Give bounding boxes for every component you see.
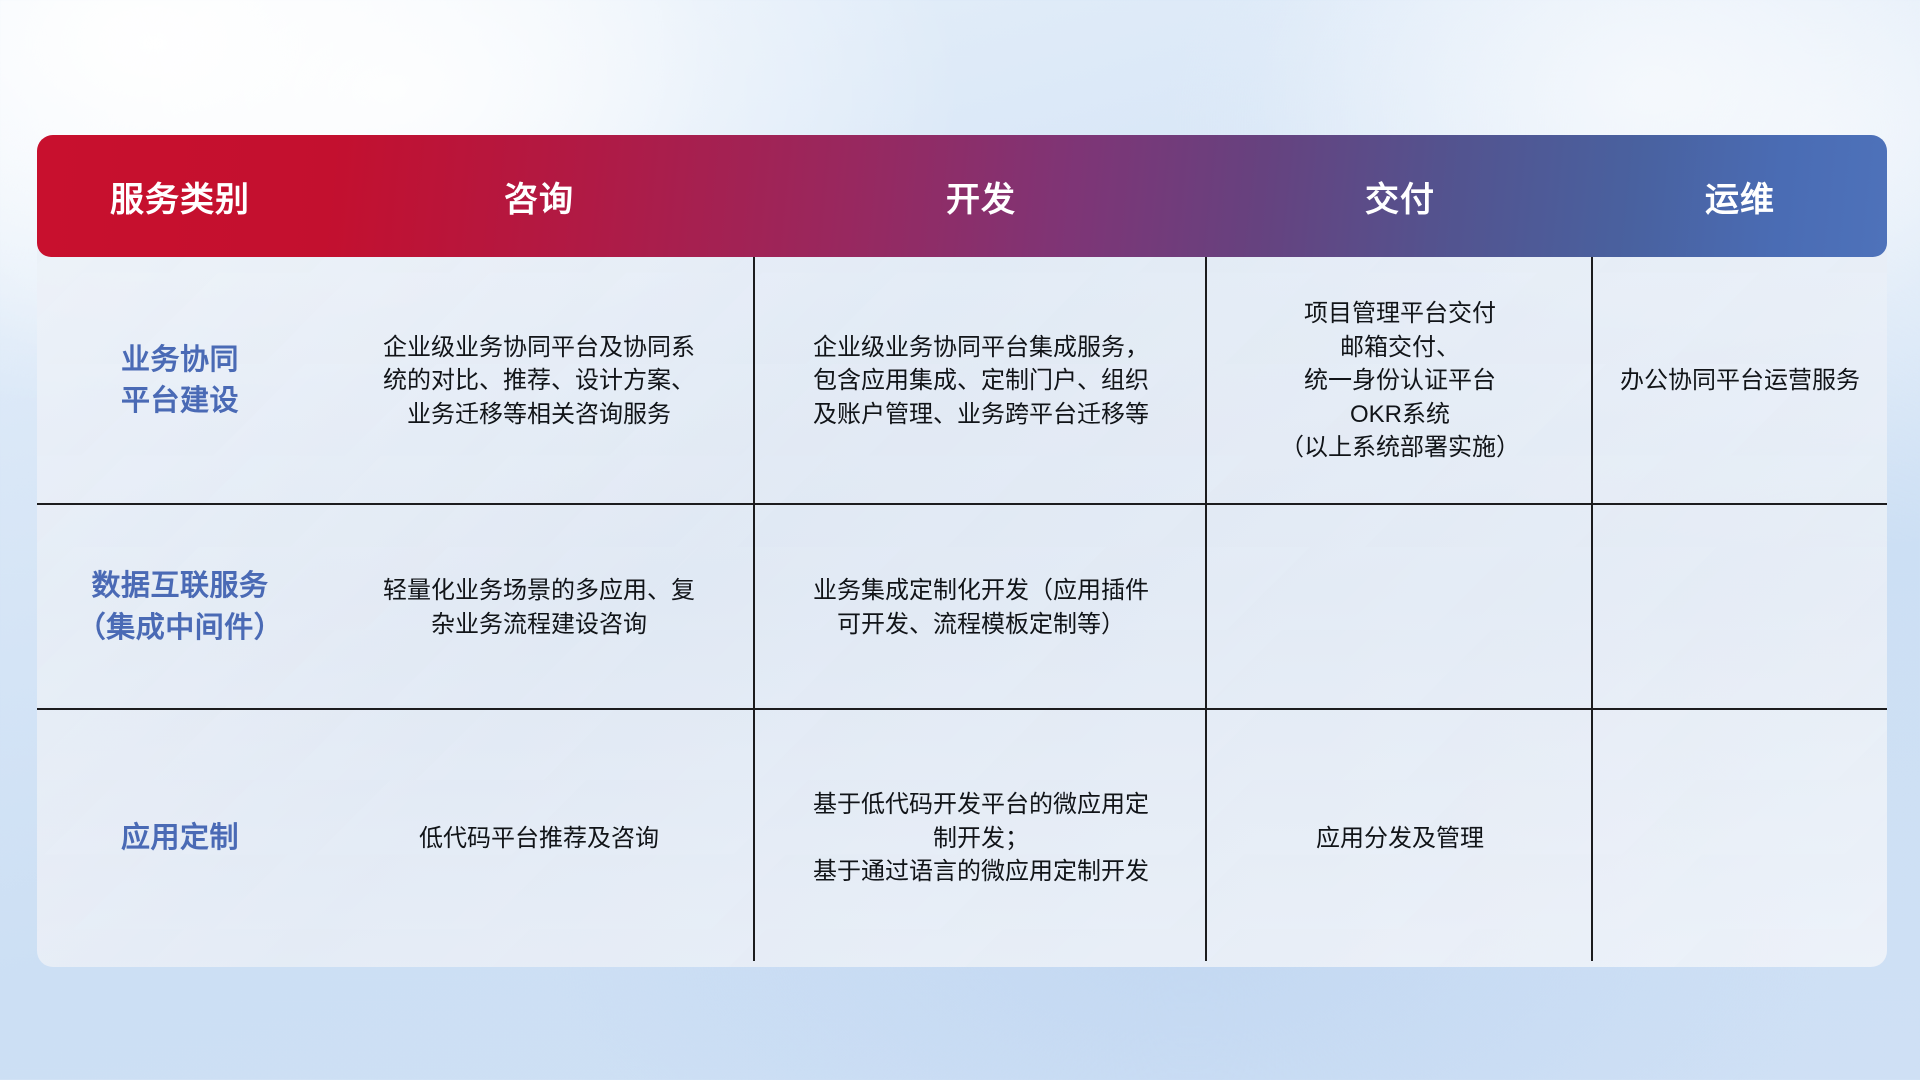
column-header-delivery: 交付 <box>1207 172 1593 221</box>
column-header-service-category: 服务类别 <box>37 172 323 221</box>
table-body: 业务协同 平台建设 企业级业务协同平台及协同系 统的对比、推荐、设计方案、 业务… <box>37 257 1887 967</box>
table-row: 数据互联服务 （集成中间件） 轻量化业务场景的多应用、复 杂业务流程建设咨询 业… <box>37 505 1887 710</box>
row-label-business-collaboration: 业务协同 平台建设 <box>37 257 323 505</box>
column-header-consulting: 咨询 <box>323 172 755 221</box>
table-row: 业务协同 平台建设 企业级业务协同平台及协同系 统的对比、推荐、设计方案、 业务… <box>37 257 1887 505</box>
cell-development-row2: 业务集成定制化开发（应用插件 可开发、流程模板定制等） <box>755 505 1207 710</box>
cell-operations-row2 <box>1593 505 1887 710</box>
column-header-operations: 运维 <box>1593 172 1887 221</box>
table-header-row: 服务类别 咨询 开发 交付 运维 <box>37 135 1887 257</box>
cell-operations-row3 <box>1593 710 1887 967</box>
cell-consulting-row1: 企业级业务协同平台及协同系 统的对比、推荐、设计方案、 业务迁移等相关咨询服务 <box>323 257 755 505</box>
cell-operations-row1: 办公协同平台运营服务 <box>1593 257 1887 505</box>
row-label-app-customization: 应用定制 <box>37 710 323 967</box>
service-matrix-table: 服务类别 咨询 开发 交付 运维 业务协同 平台建设 企业级业务协同平台及协同系… <box>37 135 1887 967</box>
cell-development-row3: 基于低代码开发平台的微应用定 制开发； 基于通过语言的微应用定制开发 <box>755 710 1207 967</box>
column-header-development: 开发 <box>755 172 1207 221</box>
cell-delivery-row1: 项目管理平台交付 邮箱交付、 统一身份认证平台 OKR系统 （以上系统部署实施） <box>1207 257 1593 505</box>
cell-delivery-row2 <box>1207 505 1593 710</box>
cell-consulting-row2: 轻量化业务场景的多应用、复 杂业务流程建设咨询 <box>323 505 755 710</box>
cell-consulting-row3: 低代码平台推荐及咨询 <box>323 710 755 967</box>
table-row: 应用定制 低代码平台推荐及咨询 基于低代码开发平台的微应用定 制开发； 基于通过… <box>37 710 1887 967</box>
row-label-data-interconnect: 数据互联服务 （集成中间件） <box>37 505 323 710</box>
cell-development-row1: 企业级业务协同平台集成服务， 包含应用集成、定制门户、组织 及账户管理、业务跨平… <box>755 257 1207 505</box>
cell-delivery-row3: 应用分发及管理 <box>1207 710 1593 967</box>
